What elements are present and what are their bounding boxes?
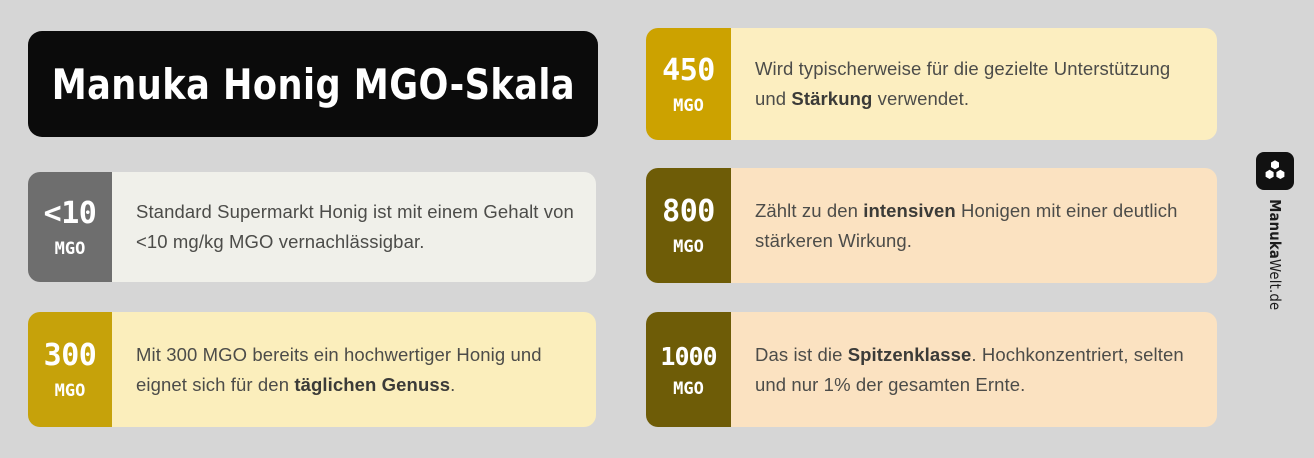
page-title-card: Manuka Honig MGO-Skala (28, 31, 598, 137)
mgo-card-450: 450 MGO Wird typischerweise für die gezi… (646, 28, 1217, 140)
mgo-unit: MGO (55, 241, 86, 258)
mgo-value: 450 (662, 56, 715, 86)
mgo-badge-800: 800 MGO (646, 168, 731, 283)
mgo-description-450: Wird typischerweise für die gezielte Unt… (731, 28, 1217, 140)
mgo-badge-300: 300 MGO (28, 312, 112, 427)
mgo-badge-450: 450 MGO (646, 28, 731, 140)
mgo-card-800: 800 MGO Zählt zu den intensiven Honigen … (646, 168, 1217, 283)
mgo-card-300: 300 MGO Mit 300 MGO bereits ein hochwert… (28, 312, 596, 427)
mgo-description-800: Zählt zu den intensiven Honigen mit eine… (731, 168, 1217, 283)
mgo-card-lt10: <10 MGO Standard Supermarkt Honig ist mi… (28, 172, 596, 282)
infographic-board: Manuka Honig MGO-Skala <10 MGO Standard … (0, 0, 1314, 458)
mgo-unit: MGO (55, 383, 86, 400)
mgo-value: 300 (44, 341, 97, 371)
mgo-description-lt10: Standard Supermarkt Honig ist mit einem … (112, 172, 596, 282)
mgo-description-text: Zählt zu den intensiven Honigen mit eine… (755, 196, 1197, 256)
brand-name: ManukaWelt.de (1266, 199, 1284, 310)
mgo-description-text: Mit 300 MGO bereits ein hochwertiger Hon… (136, 340, 576, 400)
brand-name-suffix: Welt.de (1266, 259, 1284, 310)
mgo-badge-1000: 1000 MGO (646, 312, 731, 427)
mgo-description-text: Standard Supermarkt Honig ist mit einem … (136, 197, 576, 257)
honeycomb-icon (1256, 152, 1294, 190)
mgo-description-text: Das ist die Spitzenklasse. Hochkonzentri… (755, 340, 1197, 400)
mgo-unit: MGO (673, 239, 704, 256)
mgo-description-text: Wird typischerweise für die gezielte Unt… (755, 54, 1197, 114)
mgo-description-1000: Das ist die Spitzenklasse. Hochkonzentri… (731, 312, 1217, 427)
page-title: Manuka Honig MGO-Skala (51, 60, 574, 109)
mgo-value: <10 (44, 199, 97, 229)
mgo-value: 1000 (660, 344, 716, 369)
mgo-value: 800 (662, 197, 715, 227)
mgo-unit: MGO (673, 381, 704, 398)
brand-logo: ManukaWelt.de (1254, 152, 1296, 311)
mgo-card-1000: 1000 MGO Das ist die Spitzenklasse. Hoch… (646, 312, 1217, 427)
mgo-unit: MGO (673, 98, 704, 115)
mgo-description-300: Mit 300 MGO bereits ein hochwertiger Hon… (112, 312, 596, 427)
brand-name-primary: Manuka (1266, 199, 1284, 259)
mgo-badge-lt10: <10 MGO (28, 172, 112, 282)
